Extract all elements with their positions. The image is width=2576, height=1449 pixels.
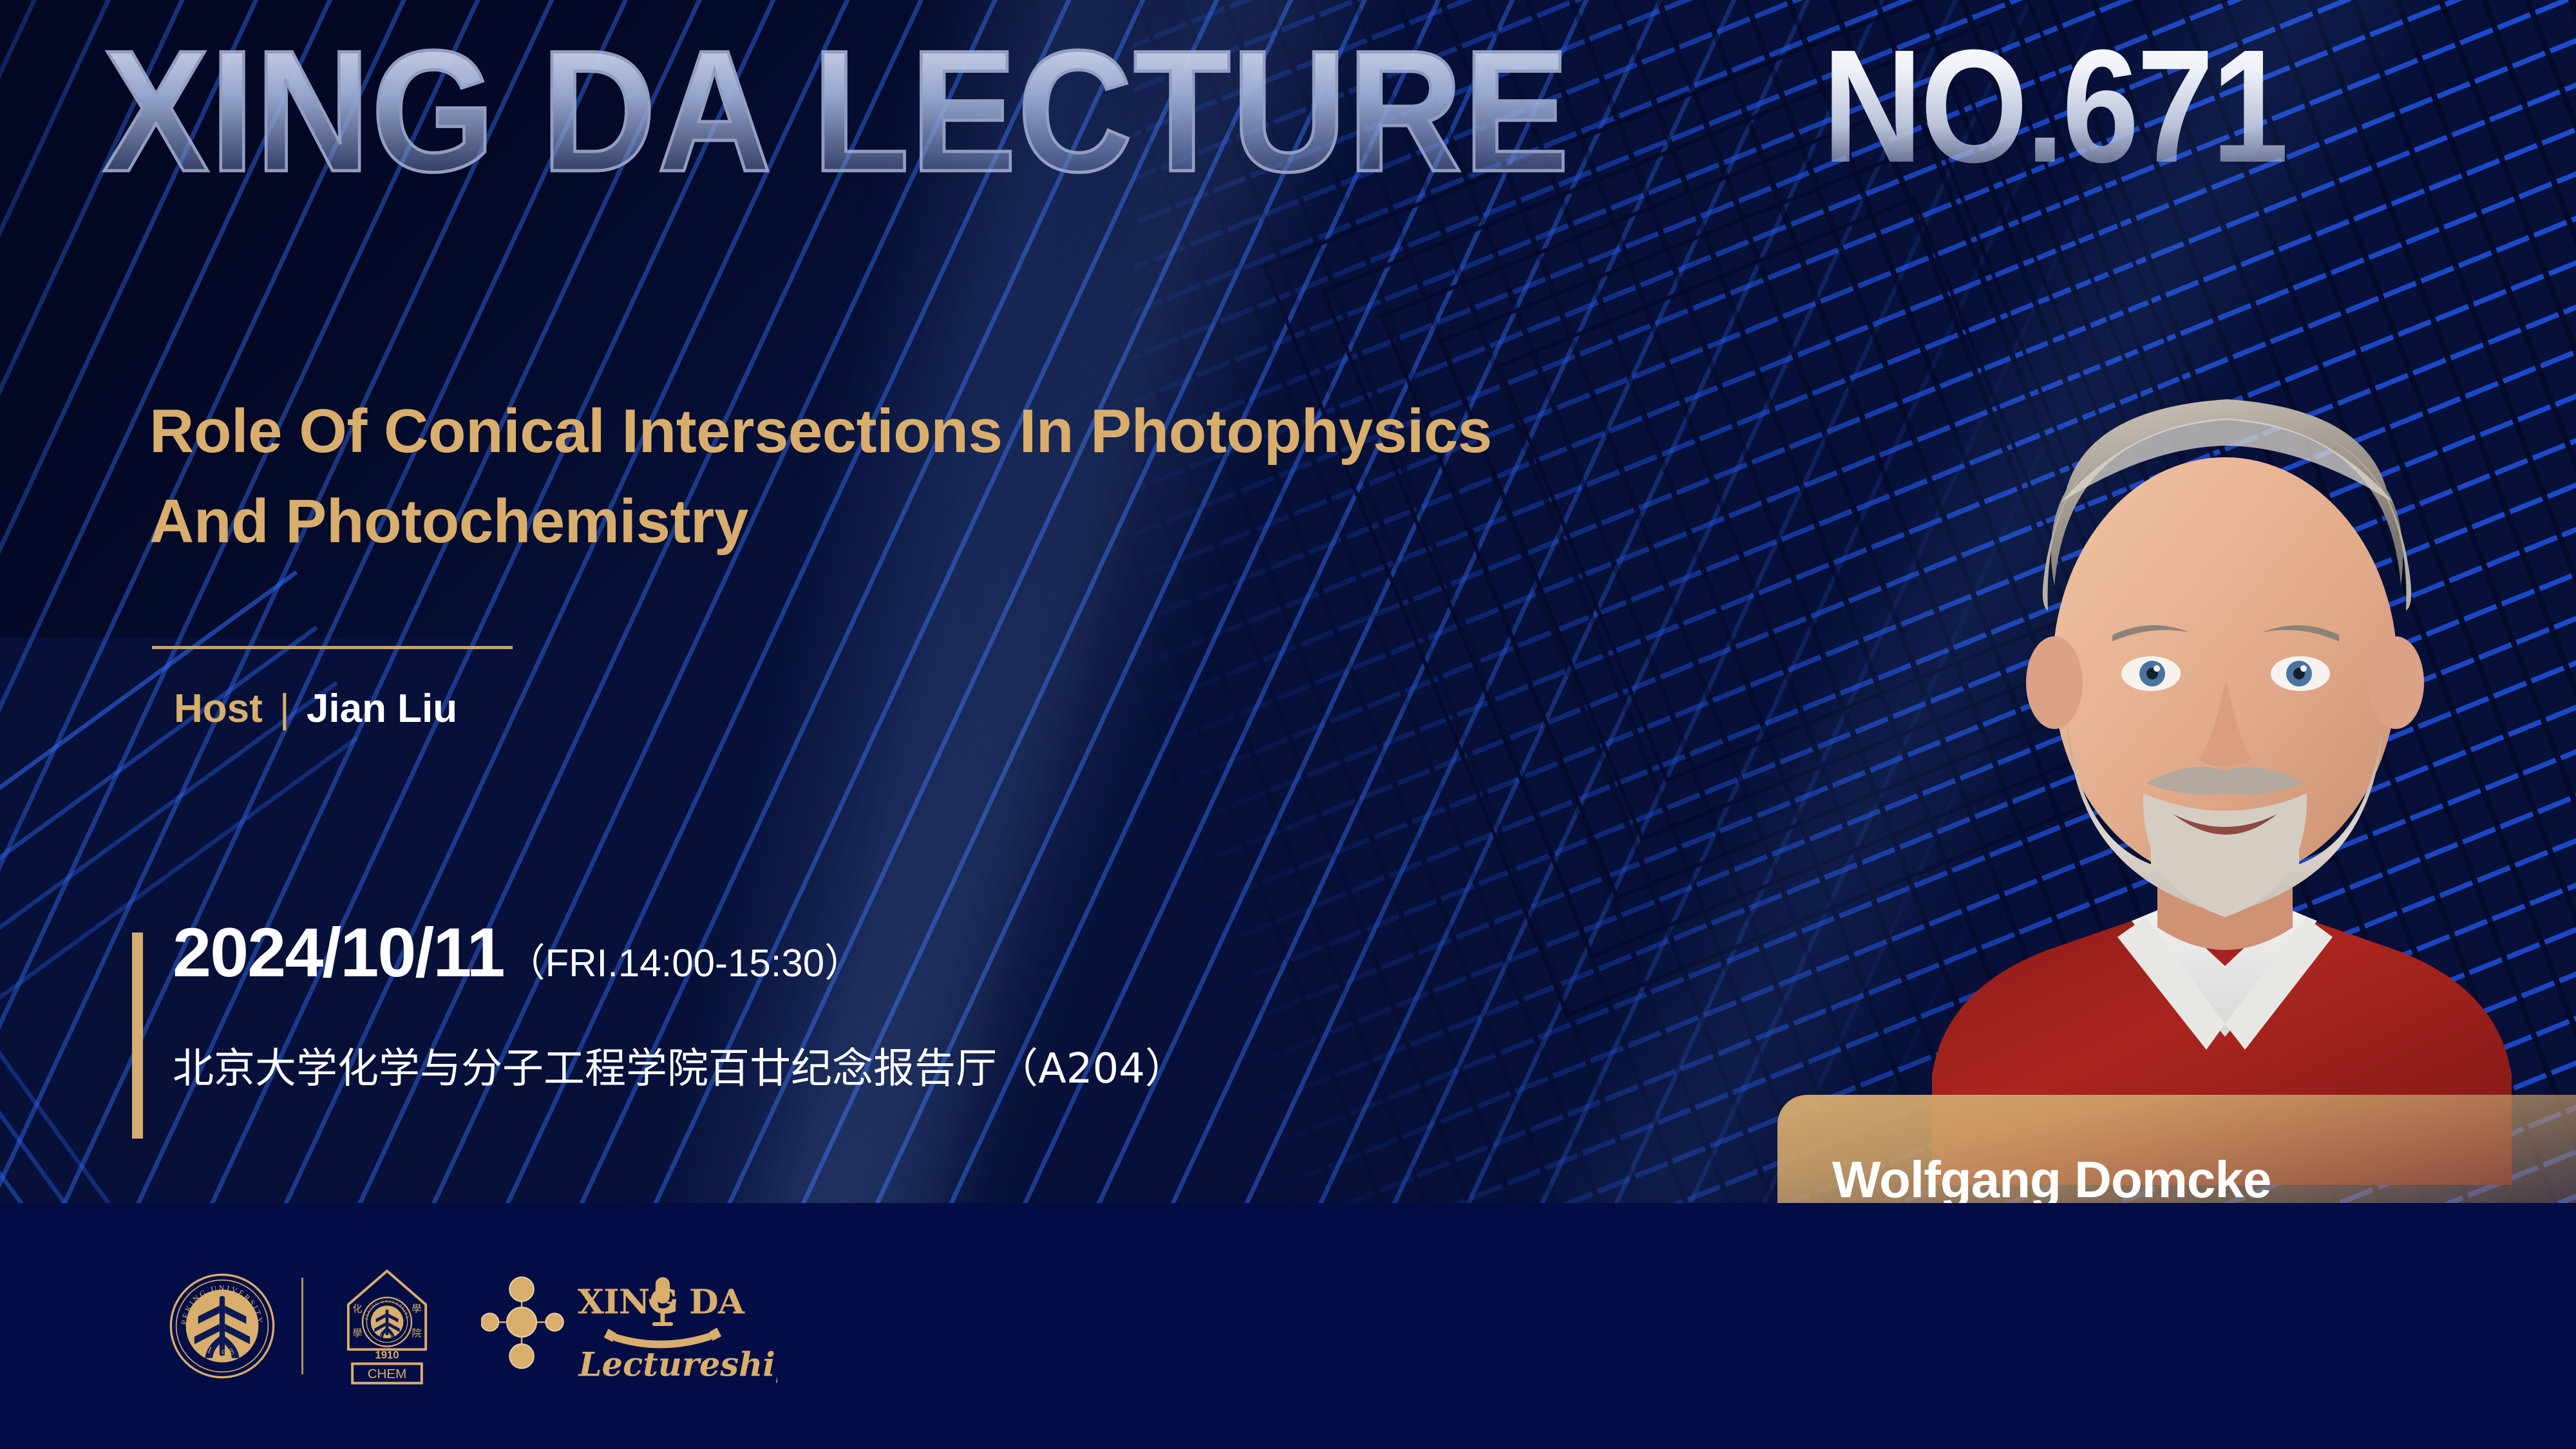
chem-seal-char-yuan: 院 [412,1327,421,1339]
chemistry-college-logo-icon: PEKING UNIVERSITY 1898 化 學 學 院 1910 CHEM [329,1265,445,1387]
datetime-accent-bar [132,933,143,1139]
xingda-script-text: Lectureship [578,1346,777,1385]
poster-header: XING DA LECTURE NO.671 [0,0,2576,270]
host-label: Host [174,689,263,729]
chem-seal-label: CHEM [368,1367,407,1381]
logo-divider [301,1278,303,1374]
footer-logo-strip: PEKING UNIVERSITY 1898 [169,1203,777,1449]
lecture-time: （FRI.14:00-15:30） [507,944,864,983]
chem-seal-char-xue-top: 學 [412,1303,421,1314]
host-separator: | [279,689,290,729]
series-name-outline-text: XING DA LECTURE [103,24,1571,197]
chem-seal-founding-year: 1910 [375,1349,399,1361]
lecture-number: NO.671 [1823,26,2286,187]
lecture-title: Role Of Conical Intersections In Photoph… [149,386,1972,567]
chem-seal-char-xue-bottom: 學 [353,1327,363,1339]
host-row: Host | Jian Liu [174,689,457,729]
lecture-date: 2024/10/11 [173,918,504,987]
xingda-lectureship-logo: XING DA Lectureship [481,1265,777,1387]
lecture-poster: XING DA LECTURE NO.671 Role Of Conical I… [0,0,2576,1449]
lecture-title-line-1: Role Of Conical Intersections In Photoph… [149,386,1972,477]
title-divider-rule [152,646,513,649]
lecture-venue: 北京大学化学与分子工程学院百廿纪念报告厅（A204） [173,1043,1186,1095]
host-name: Jian Liu [307,689,457,729]
lecture-title-line-2: And Photochemistry [149,477,1972,567]
chem-seal-char-hua: 化 [353,1303,363,1314]
datetime-row: 2024/10/11 （FRI.14:00-15:30） [173,918,863,987]
peking-university-seal-icon: PEKING UNIVERSITY 1898 [169,1273,276,1379]
speaker-portrait [1855,309,2576,1185]
speaker-name: Wolfgang Domcke [1832,1154,2271,1206]
